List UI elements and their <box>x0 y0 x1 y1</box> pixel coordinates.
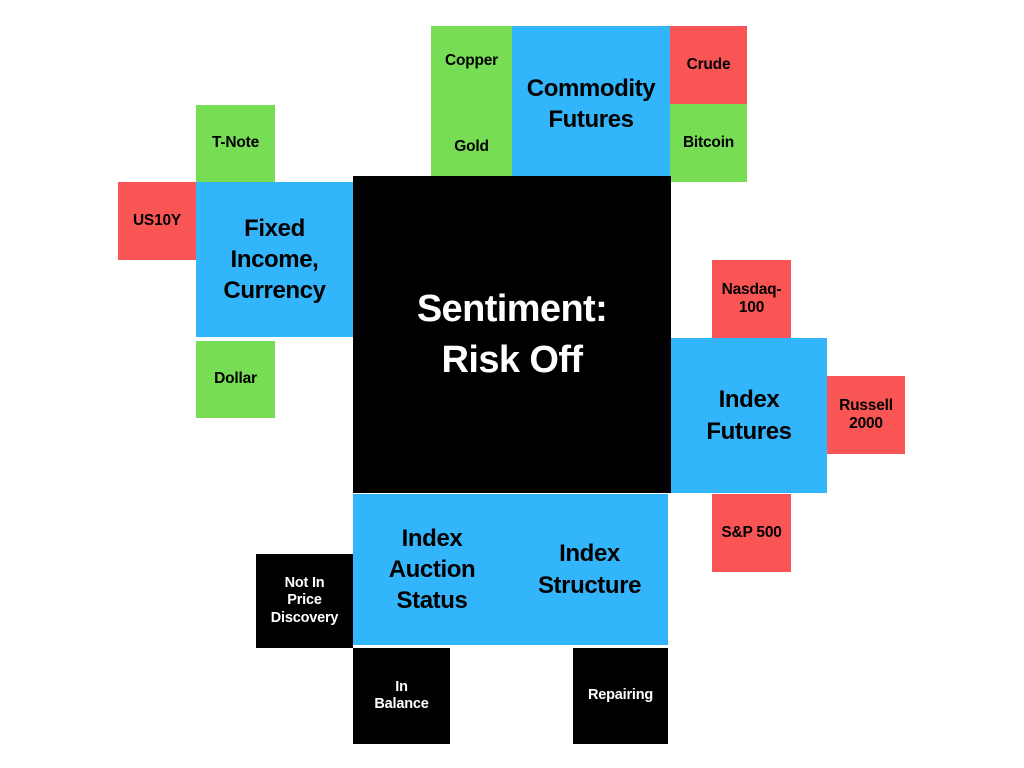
group-index-auction-status-title-line2: Auction <box>389 556 476 583</box>
group-index-structure-title-line1: Index <box>559 540 620 567</box>
group-commodity-futures-title: Commodity Futures <box>527 73 655 135</box>
group-commodity-futures[interactable]: Commodity Futures <box>512 26 670 182</box>
status-tag-in-balance-line1: In <box>395 679 408 695</box>
group-index-auction-status-title-line3: Status <box>397 587 468 614</box>
group-index-futures-title-line1: Index <box>719 386 780 413</box>
fixed-income-member-us10y[interactable]: US10Y <box>118 182 196 260</box>
status-tag-in-balance-label: In Balance <box>374 679 428 713</box>
fixed-income-member-t-note[interactable]: T-Note <box>196 105 275 182</box>
fixed-income-member-t-note-label: T-Note <box>212 134 259 152</box>
status-tag-in-balance[interactable]: In Balance <box>353 648 450 744</box>
group-commodity-futures-title-line1: Commodity <box>527 75 655 102</box>
fixed-income-member-dollar-label: Dollar <box>214 370 257 388</box>
status-tag-repairing-label: Repairing <box>588 687 653 704</box>
status-tag-not-in-price-discovery[interactable]: Not In Price Discovery <box>256 554 353 648</box>
status-tag-not-in-price-discovery-label: Not In Price Discovery <box>271 575 339 626</box>
commodity-member-bitcoin[interactable]: Bitcoin <box>670 104 747 182</box>
commodity-member-crude-label: Crude <box>687 56 731 74</box>
status-tag-not-in-price-discovery-line3: Discovery <box>271 610 339 626</box>
index-futures-member-nasdaq-100-label: Nasdaq-100 <box>714 281 789 318</box>
commodity-member-copper[interactable]: Copper <box>431 26 512 104</box>
commodity-member-gold-label: Gold <box>454 138 489 156</box>
group-index-structure-title: Index Structure <box>538 538 641 600</box>
sentiment-center-line1: Sentiment: <box>417 288 607 330</box>
group-index-futures[interactable]: Index Futures <box>671 338 827 493</box>
sentiment-center-label: Sentiment: Risk Off <box>417 284 607 384</box>
group-index-structure[interactable]: Index Structure <box>511 494 668 645</box>
commodity-member-gold[interactable]: Gold <box>431 104 512 182</box>
sentiment-center-line2: Risk Off <box>442 339 583 381</box>
group-fixed-income-currency-title: Fixed Income, Currency <box>223 213 325 307</box>
commodity-member-copper-label: Copper <box>445 52 498 70</box>
group-index-auction-status[interactable]: Index Auction Status <box>353 494 511 645</box>
commodity-member-crude[interactable]: Crude <box>670 26 747 104</box>
status-tag-in-balance-line2: Balance <box>374 696 428 712</box>
status-tag-not-in-price-discovery-line1: Not In <box>285 575 325 591</box>
fixed-income-member-dollar[interactable]: Dollar <box>196 341 275 418</box>
index-futures-member-nasdaq-100[interactable]: Nasdaq-100 <box>712 260 791 338</box>
group-fixed-income-currency-title-line2: Income, <box>231 246 319 273</box>
group-fixed-income-currency[interactable]: Fixed Income, Currency <box>196 182 353 337</box>
group-fixed-income-currency-title-line3: Currency <box>223 277 325 304</box>
sentiment-center-block[interactable]: Sentiment: Risk Off <box>353 176 671 493</box>
commodity-member-bitcoin-label: Bitcoin <box>683 134 734 152</box>
group-index-auction-status-title: Index Auction Status <box>389 523 476 617</box>
status-tag-repairing[interactable]: Repairing <box>573 648 668 744</box>
group-index-structure-title-line2: Structure <box>538 572 641 599</box>
index-futures-member-sp-500[interactable]: S&P 500 <box>712 494 791 572</box>
status-tag-not-in-price-discovery-line2: Price <box>287 592 321 608</box>
group-index-futures-title: Index Futures <box>706 384 791 446</box>
index-futures-member-sp-500-label: S&P 500 <box>721 524 781 542</box>
group-commodity-futures-title-line2: Futures <box>548 106 633 133</box>
fixed-income-member-us10y-label: US10Y <box>133 212 181 230</box>
market-sentiment-board: Copper Gold Commodity Futures Crude Bitc… <box>0 0 1024 768</box>
group-index-futures-title-line2: Futures <box>706 418 791 445</box>
index-futures-member-russell-2000-label: Russell 2000 <box>829 397 903 434</box>
group-fixed-income-currency-title-line1: Fixed <box>244 215 305 242</box>
group-index-auction-status-title-line1: Index <box>402 525 463 552</box>
index-futures-member-russell-2000[interactable]: Russell 2000 <box>827 376 905 454</box>
